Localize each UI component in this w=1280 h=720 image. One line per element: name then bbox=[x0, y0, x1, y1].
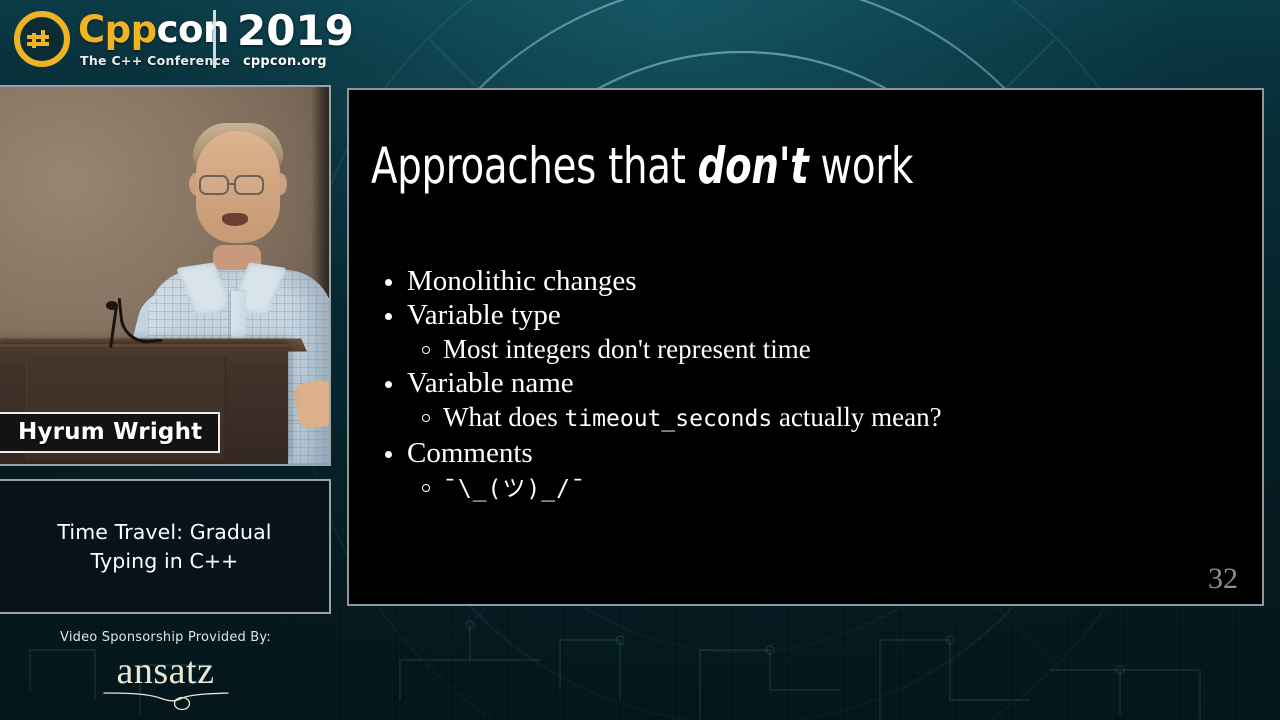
slide-title-before: Approaches that bbox=[371, 137, 698, 195]
microphone-head bbox=[106, 301, 118, 310]
bullet-item: Monolithic changes bbox=[373, 265, 1242, 298]
bullet-subitem: ¯\_(ツ)_/¯ bbox=[373, 471, 1242, 506]
brand-tagline: The C++ Conference bbox=[80, 53, 230, 68]
talk-title-card: Time Travel: Gradual Typing in C++ bbox=[0, 479, 331, 614]
sponsor-label: Video Sponsorship Provided By: bbox=[0, 626, 331, 645]
bullet-text-before: What does bbox=[443, 402, 564, 432]
brand-wordmark: Cppcon bbox=[78, 10, 229, 50]
brand-con: con bbox=[157, 8, 229, 51]
slide-bullet-list: Monolithic changes Variable type Most in… bbox=[373, 265, 1242, 507]
talk-title: Time Travel: Gradual Typing in C++ bbox=[0, 518, 329, 576]
sponsor-block: Video Sponsorship Provided By: ansatz bbox=[0, 626, 331, 720]
brand-cpp: Cpp bbox=[78, 8, 157, 51]
bullet-text-after: actually mean? bbox=[772, 402, 941, 432]
slide-title: Approaches that don't work bbox=[371, 137, 913, 195]
speaker-name: Hyrum Wright bbox=[18, 419, 202, 445]
bullet-subitem: Most integers don't represent time bbox=[373, 333, 1242, 366]
speaker-nameplate: Hyrum Wright bbox=[0, 412, 220, 453]
code-identifier: timeout_seconds bbox=[564, 406, 772, 432]
speaker-glasses-bridge bbox=[229, 183, 236, 185]
speaker-video-panel[interactable] bbox=[0, 85, 331, 466]
bullet-subitem: What does timeout_seconds actually mean? bbox=[373, 401, 1242, 436]
bullet-item: Variable name bbox=[373, 367, 1242, 400]
broadcast-layout: Cppcon The C++ Conference 2019 cppcon.or… bbox=[0, 0, 1280, 720]
slide-title-after: work bbox=[809, 137, 914, 195]
slide-title-emphasis: don't bbox=[698, 137, 809, 195]
slide-page-number: 32 bbox=[1208, 562, 1238, 596]
bullet-item: Variable type bbox=[373, 299, 1242, 332]
speaker-mouth bbox=[222, 213, 248, 226]
speaker-glasses-left bbox=[199, 175, 229, 195]
shrug-emoticon: ¯\_(ツ)_/¯ bbox=[443, 476, 586, 502]
event-year: 2019 bbox=[237, 6, 354, 55]
speaker-glasses-right bbox=[234, 175, 264, 195]
event-url: cppcon.org bbox=[243, 54, 327, 69]
sponsor-logo-text: ansatz bbox=[0, 651, 331, 691]
event-header: Cppcon The C++ Conference 2019 cppcon.or… bbox=[0, 0, 1280, 84]
bullet-item: Comments bbox=[373, 437, 1242, 470]
cppcon-logo-icon bbox=[13, 10, 71, 68]
slide-panel[interactable]: Approaches that don't work Monolithic ch… bbox=[347, 88, 1264, 606]
header-divider bbox=[213, 10, 216, 68]
